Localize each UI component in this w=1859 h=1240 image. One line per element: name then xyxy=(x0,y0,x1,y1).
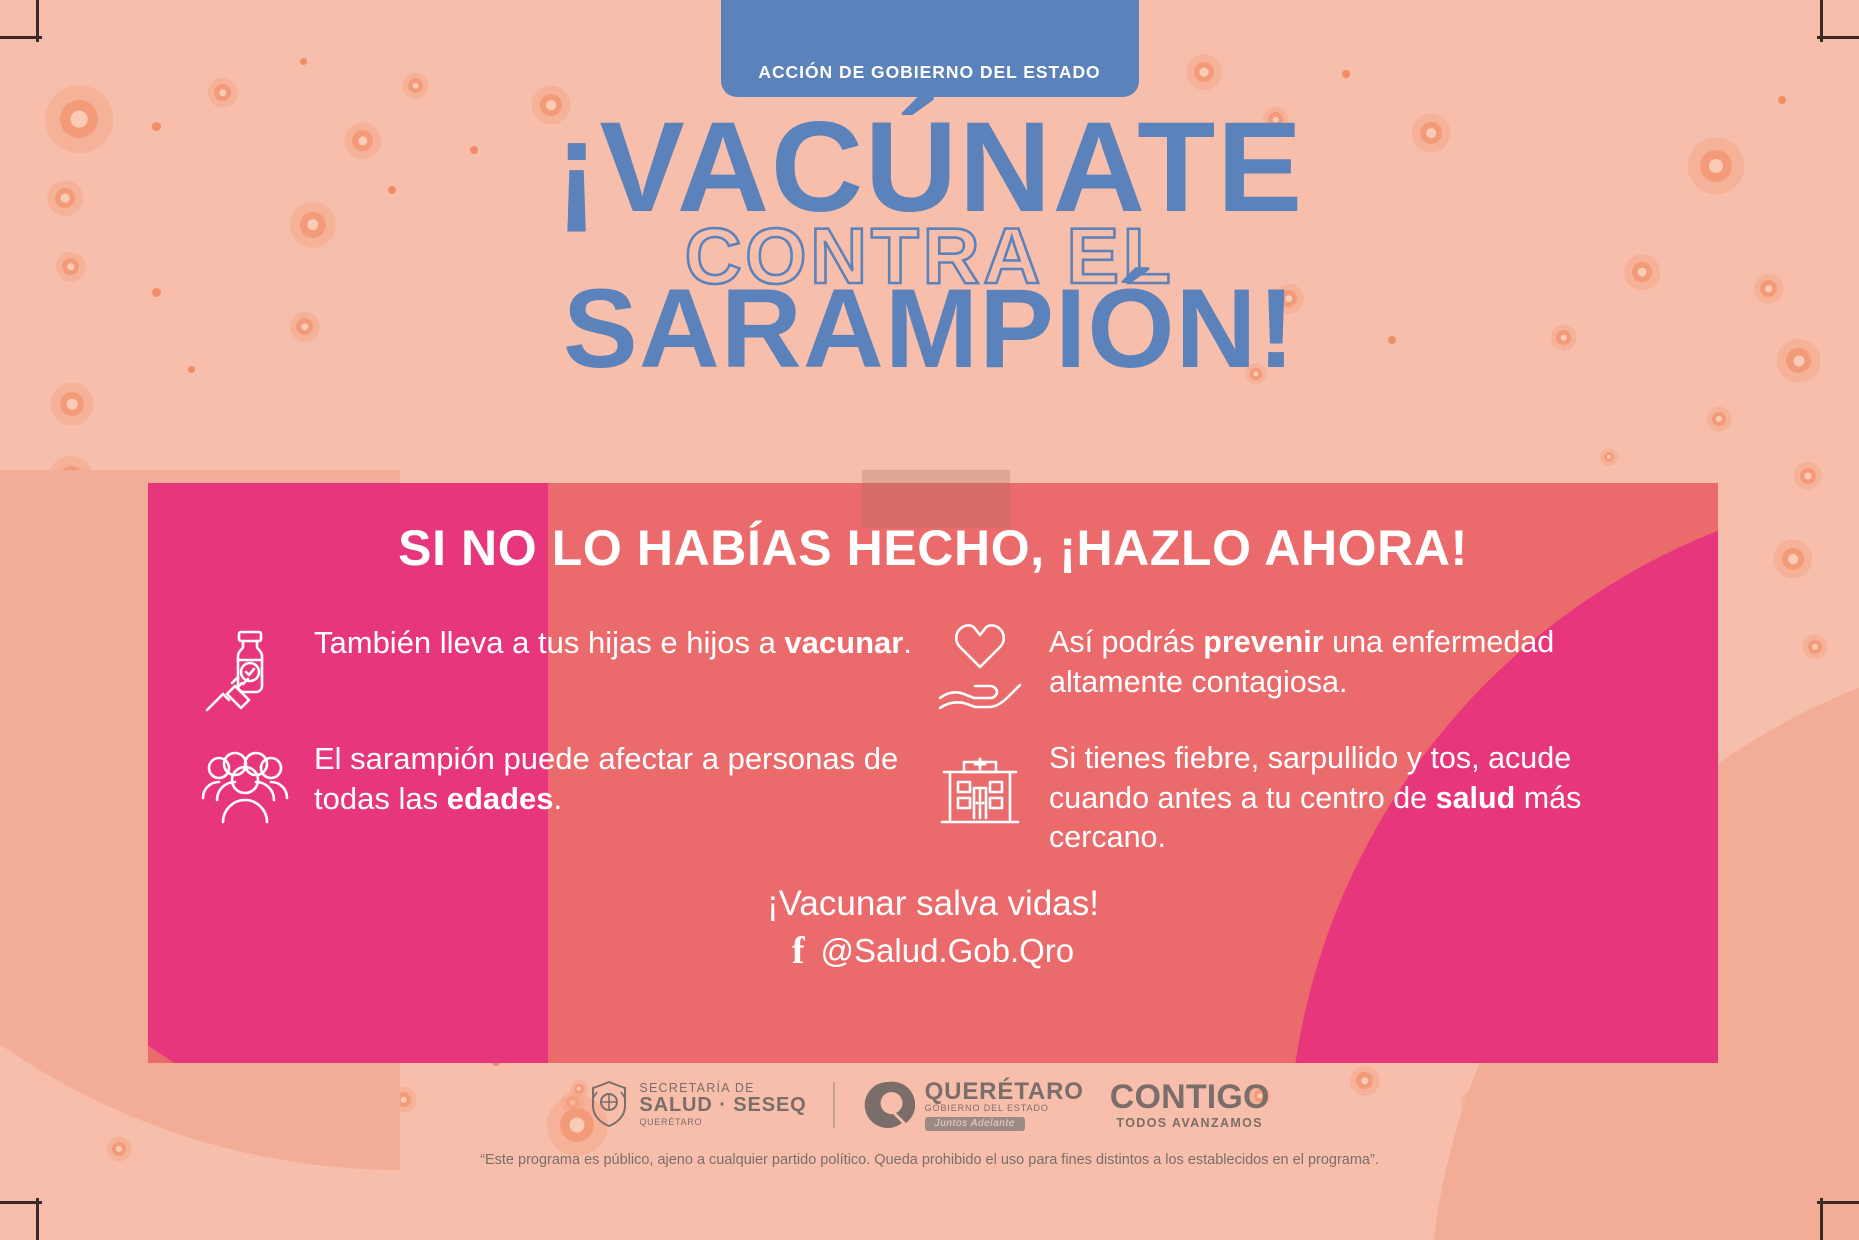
legal-disclaimer: “Este programa es público, ajeno a cualq… xyxy=(0,1152,1859,1168)
crop-mark-top-right-h xyxy=(1817,36,1859,39)
seseq-logo: SECRETARÍA DE SALUD · SESEQ QUERÉTARO xyxy=(589,1080,806,1130)
contigo-line-1: CONTIGO xyxy=(1110,1080,1270,1114)
tagline: ¡Vacunar salva vidas! xyxy=(148,884,1718,924)
list-item-text: También lleva a tus hijas e hijos a vacu… xyxy=(314,617,912,663)
bullet-list: También lleva a tus hijas e hijos a vacu… xyxy=(148,577,1718,858)
page-title: ¡VACÚNATE CONTRA EL SARAMPIÓN! xyxy=(0,112,1859,379)
crop-mark-bottom-left-h xyxy=(0,1201,42,1204)
tape-artifact xyxy=(862,470,1010,528)
gov-action-tab: ACCIÓN DE GOBIERNO DEL ESTADO xyxy=(721,0,1139,97)
contigo-line-2: TODOS AVANZAMOS xyxy=(1110,1117,1270,1130)
facebook-link[interactable]: f @Salud.Gob.Qro xyxy=(148,932,1718,970)
contigo-logo: CONTIGO TODOS AVANZAMOS xyxy=(1110,1080,1270,1130)
queretaro-line-2: GOBIERNO DEL ESTADO xyxy=(925,1104,1084,1113)
queretaro-line-1: QUERÉTARO xyxy=(925,1079,1084,1104)
info-panel: SI NO LO HABÍAS HECHO, ¡HAZLO AHORA! xyxy=(148,483,1718,1063)
poster-root: ACCIÓN DE GOBIERNO DEL ESTADO ¡VACÚNATE … xyxy=(0,0,1859,1240)
footer-logos: SECRETARÍA DE SALUD · SESEQ QUERÉTARO QU… xyxy=(0,1078,1859,1132)
group-of-people-icon xyxy=(196,737,294,835)
facebook-handle: @Salud.Gob.Qro xyxy=(821,932,1075,970)
seseq-line-3: QUERÉTARO xyxy=(639,1118,806,1127)
headline-line-3: SARAMPIÓN! xyxy=(0,280,1859,379)
queretaro-coat-of-arms-icon xyxy=(589,1080,629,1130)
hospital-building-icon xyxy=(931,737,1029,835)
queretaro-q-icon xyxy=(861,1078,915,1132)
facebook-icon: f xyxy=(792,932,805,970)
crop-mark-top-left-h xyxy=(0,36,42,39)
gov-action-tab-label: ACCIÓN DE GOBIERNO DEL ESTADO xyxy=(758,62,1100,83)
list-item-text: El sarampión puede afectar a personas de… xyxy=(314,733,931,820)
seseq-line-2: SALUD · SESEQ xyxy=(639,1095,806,1116)
queretaro-gobierno-logo: QUERÉTARO GOBIERNO DEL ESTADO Juntos Ade… xyxy=(861,1078,1084,1132)
crop-mark-bottom-right-h xyxy=(1817,1201,1859,1204)
heart-in-hand-icon xyxy=(931,621,1029,719)
list-item: También lleva a tus hijas e hijos a vacu… xyxy=(196,617,931,719)
list-item: Si tienes fiebre, sarpullido y tos, acud… xyxy=(931,733,1666,858)
vaccine-vial-syringe-icon xyxy=(196,621,294,719)
queretaro-tagline: Juntos Adelante xyxy=(925,1117,1025,1132)
footer-divider xyxy=(833,1082,835,1128)
crop-mark-bottom-right-v xyxy=(1820,1198,1823,1240)
headline-line-1: ¡VACÚNATE xyxy=(0,112,1859,225)
list-item: Así podrás prevenir una enfermedad altam… xyxy=(931,617,1666,719)
list-item-text: Así podrás prevenir una enfermedad altam… xyxy=(1049,617,1666,702)
crop-mark-bottom-left-v xyxy=(36,1198,39,1240)
list-item: El sarampión puede afectar a personas de… xyxy=(196,733,931,858)
list-item-text: Si tienes fiebre, sarpullido y tos, acud… xyxy=(1049,733,1666,858)
